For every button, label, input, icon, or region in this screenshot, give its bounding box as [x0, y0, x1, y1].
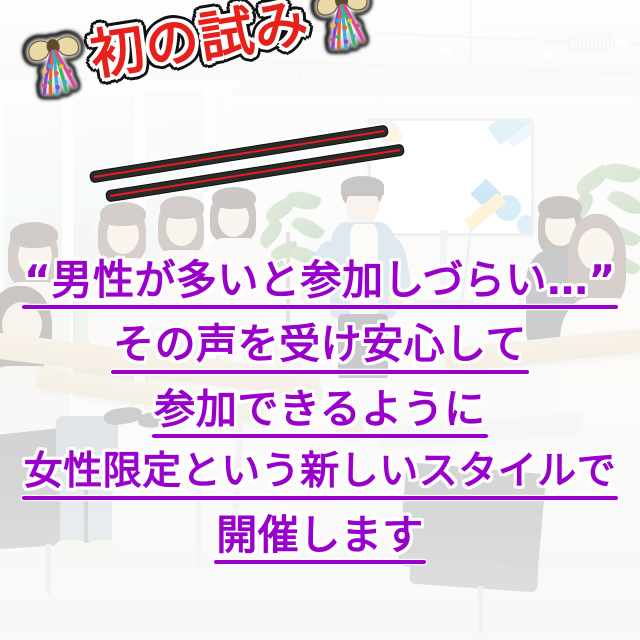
chair-post	[478, 586, 483, 634]
downlight	[540, 50, 556, 58]
poster-canvas: 初の試み	[0, 0, 640, 640]
screen-accent-shape	[517, 215, 534, 235]
copy-line-text: 女性限定という新しいスタイルで	[24, 451, 617, 493]
copy-line-text: その声を受け安心して	[113, 322, 527, 366]
copy-underline	[22, 496, 619, 500]
copy-line: “男性が多いと参加しづらい…”	[22, 258, 618, 309]
copy-underline	[214, 560, 426, 564]
downlight	[438, 46, 454, 54]
downlight	[614, 38, 630, 46]
copy-line: 参加できるように	[152, 387, 487, 438]
body-copy: “男性が多いと参加しづらい…” その声を受け安心して 参加できるように 女性限定…	[0, 258, 640, 577]
copy-underline	[152, 434, 487, 438]
copy-line-text: 参加できるように	[154, 387, 485, 431]
copy-underline	[22, 305, 618, 309]
ceiling-panel	[492, 2, 612, 24]
air-vent	[568, 34, 614, 49]
ceiling-grid-line	[470, 0, 472, 70]
kusudama-ornament	[21, 25, 91, 100]
kusudama-ornament	[309, 0, 379, 54]
copy-line: 女性限定という新しいスタイルで	[22, 451, 619, 500]
copy-line-text: 開催します	[216, 513, 424, 557]
copy-line-text: “男性が多いと参加しづらい…”	[24, 258, 616, 302]
presentation-screen	[368, 118, 534, 236]
copy-underline	[111, 370, 529, 374]
copy-line: 開催します	[214, 513, 426, 564]
copy-line: その声を受け安心して	[111, 322, 529, 373]
